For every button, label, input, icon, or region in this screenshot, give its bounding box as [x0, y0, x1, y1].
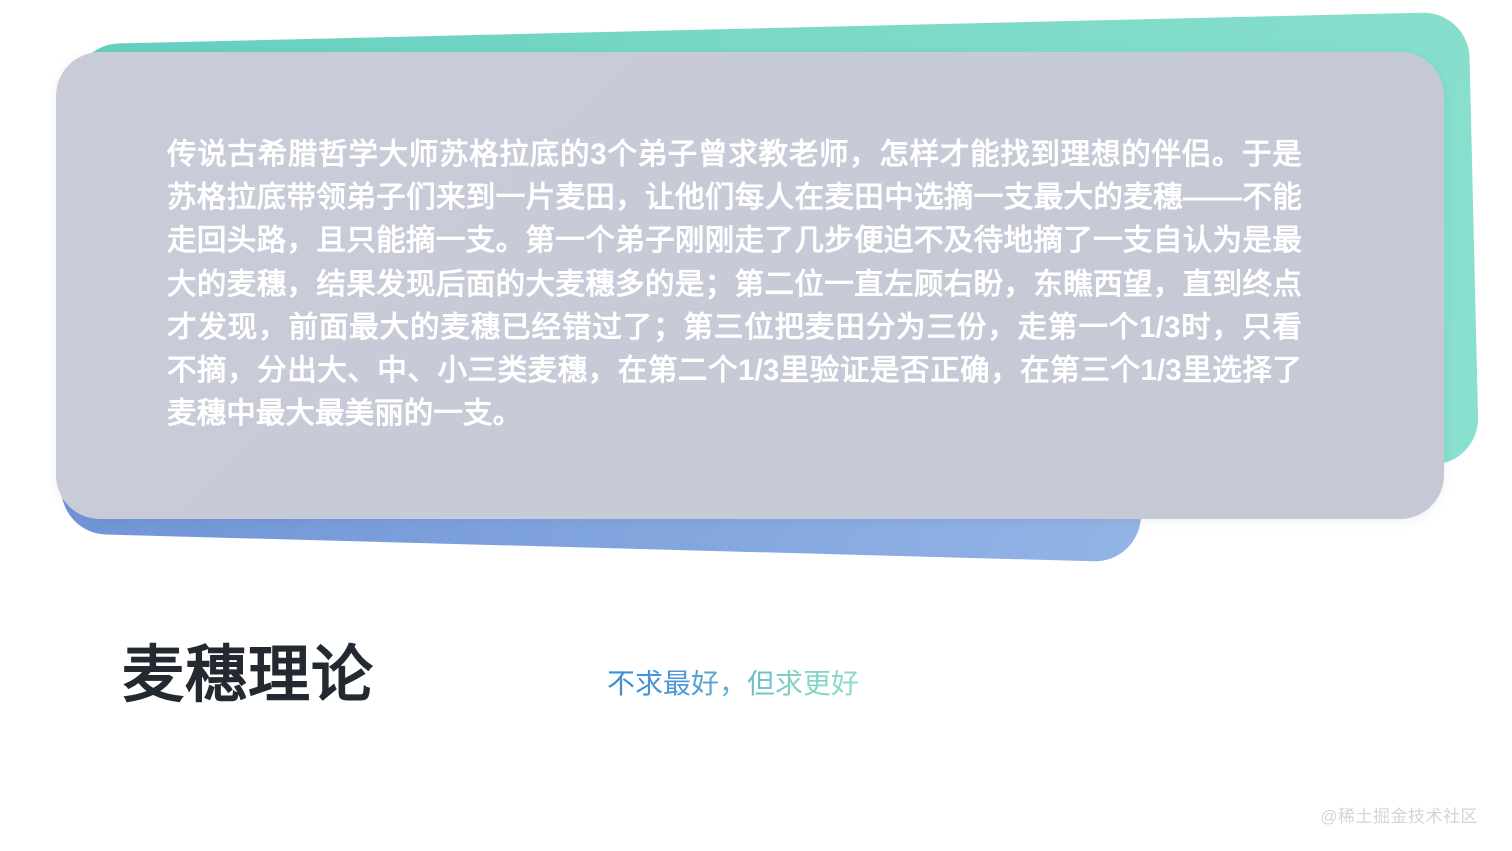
title-block: 麦穗理论 不求最好，但求更好	[122, 645, 859, 707]
quote-panel-body: 传说古希腊哲学大师苏格拉底的3个弟子曾求教老师，怎样才能找到理想的伴侣。于是苏格…	[167, 133, 1302, 435]
page-title: 麦穗理论	[122, 645, 374, 707]
subtitle-wrap: 不求最好，但求更好	[607, 654, 859, 698]
story-paragraph: 传说古希腊哲学大师苏格拉底的3个弟子曾求教老师，怎样才能找到理想的伴侣。于是苏格…	[167, 133, 1302, 435]
quote-panel: 传说古希腊哲学大师苏格拉底的3个弟子曾求教老师，怎样才能找到理想的伴侣。于是苏格…	[56, 52, 1444, 519]
page-subtitle: 不求最好，但求更好	[607, 670, 859, 698]
watermark: @稀土掘金技术社区	[1320, 802, 1478, 827]
slide-canvas: 传说古希腊哲学大师苏格拉底的3个弟子曾求教老师，怎样才能找到理想的伴侣。于是苏格…	[0, 0, 1512, 851]
